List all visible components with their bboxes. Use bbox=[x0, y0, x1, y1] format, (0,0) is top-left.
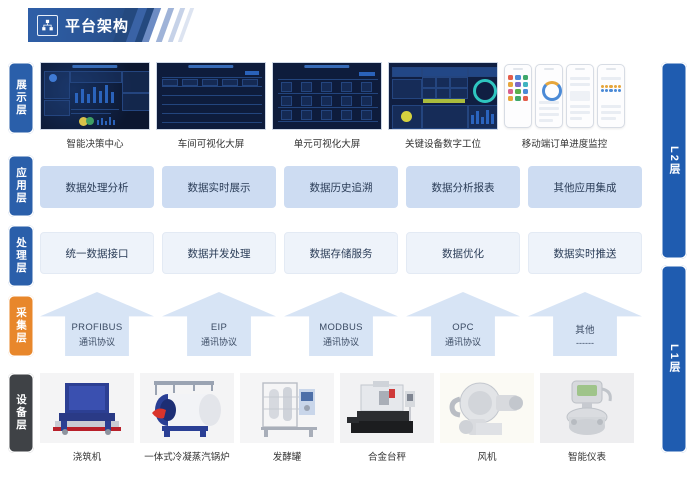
protocol-arrow-modbus[interactable]: MODBUS 通讯协议 bbox=[284, 292, 398, 356]
proc-item-unified-data-interface[interactable]: 统一数据接口 bbox=[40, 232, 154, 274]
right-tab-l1-layer[interactable]: L1层 bbox=[661, 265, 687, 453]
page-header: 平台架构 bbox=[0, 0, 695, 52]
dashboard-thumbnail[interactable] bbox=[40, 62, 150, 130]
sidebar-item-collection-layer[interactable]: 采集层 bbox=[8, 295, 34, 357]
header-banner: 平台架构 bbox=[28, 8, 136, 42]
protocol-name: 其他 bbox=[575, 322, 595, 336]
protocol-arrow-profibus[interactable]: PROFIBUS 通讯协议 bbox=[40, 292, 154, 356]
phone-mockup bbox=[535, 64, 563, 128]
display-layer-row: 智能决策中心 车间可视化大屏 bbox=[40, 62, 648, 150]
proc-item-label: 数据优化 bbox=[442, 246, 484, 261]
sidebar-label: 应用层 bbox=[15, 167, 27, 205]
device-photo[interactable] bbox=[40, 373, 134, 443]
device-caption: 发酵罐 bbox=[273, 449, 302, 463]
display-item-equipment-station[interactable]: 关键设备数字工位 bbox=[388, 62, 498, 150]
display-item-smart-decision-center[interactable]: 智能决策中心 bbox=[40, 62, 150, 150]
collection-layer-row: PROFIBUS 通讯协议 EIP 通讯协议 MODBUS 通讯协议 OPC 通… bbox=[40, 292, 648, 356]
protocol-name: OPC bbox=[452, 322, 474, 333]
app-item-analysis-report[interactable]: 数据分析报表 bbox=[406, 166, 520, 208]
right-tab-label: L2层 bbox=[666, 146, 682, 176]
display-item-caption: 车间可视化大屏 bbox=[178, 136, 245, 150]
proc-item-label: 统一数据接口 bbox=[66, 246, 129, 261]
sidebar-item-display-layer[interactable]: 展示层 bbox=[8, 62, 34, 134]
device-layer-row: 浇筑机 一体式冷凝蒸汽锅炉 bbox=[40, 373, 648, 463]
device-item-fermenter[interactable]: 发酵罐 bbox=[240, 373, 334, 463]
app-item-label: 数据实时展示 bbox=[188, 180, 251, 195]
platform-architecture-diagram: 平台架构 展示层 应用层 处理层 采集层 设备层 L2层 L1层 bbox=[0, 0, 695, 478]
protocol-sub: 通讯协议 bbox=[79, 335, 115, 348]
display-item-caption: 单元可视化大屏 bbox=[294, 136, 361, 150]
phone-mockups[interactable] bbox=[504, 62, 625, 130]
dashboard-thumbnail[interactable] bbox=[388, 62, 498, 130]
app-item-label: 数据历史追溯 bbox=[310, 180, 373, 195]
protocol-arrow-opc[interactable]: OPC 通讯协议 bbox=[406, 292, 520, 356]
device-item-boiler[interactable]: 一体式冷凝蒸汽锅炉 bbox=[140, 373, 234, 463]
phone-mockup bbox=[504, 64, 532, 128]
device-item-alloy-scale[interactable]: 合金台秤 bbox=[340, 373, 434, 463]
proc-item-concurrent-processing[interactable]: 数据并发处理 bbox=[162, 232, 276, 274]
device-item-blower[interactable]: 风机 bbox=[440, 373, 534, 463]
device-photo[interactable] bbox=[540, 373, 634, 443]
device-caption: 风机 bbox=[477, 449, 496, 463]
display-item-caption: 移动端订单进度监控 bbox=[522, 136, 608, 150]
sidebar-item-application-layer[interactable]: 应用层 bbox=[8, 155, 34, 217]
app-item-label: 数据处理分析 bbox=[66, 180, 129, 195]
sidebar-label: 采集层 bbox=[15, 307, 27, 345]
phone-mockup bbox=[597, 64, 625, 128]
protocol-sub: 通讯协议 bbox=[323, 335, 359, 348]
device-caption: 浇筑机 bbox=[73, 449, 102, 463]
processing-layer-row: 统一数据接口 数据并发处理 数据存储服务 数据优化 数据实时推送 bbox=[40, 232, 648, 274]
device-item-casting-machine[interactable]: 浇筑机 bbox=[40, 373, 134, 463]
device-caption: 智能仪表 bbox=[568, 449, 606, 463]
protocol-sub: ------ bbox=[576, 338, 594, 348]
device-caption: 一体式冷凝蒸汽锅炉 bbox=[144, 449, 230, 463]
device-photo[interactable] bbox=[240, 373, 334, 443]
sidebar-label: 设备层 bbox=[15, 394, 27, 432]
device-photo[interactable] bbox=[340, 373, 434, 443]
proc-item-realtime-push[interactable]: 数据实时推送 bbox=[528, 232, 642, 274]
app-item-data-processing-analysis[interactable]: 数据处理分析 bbox=[40, 166, 154, 208]
header-stripes bbox=[124, 8, 204, 42]
application-layer-row: 数据处理分析 数据实时展示 数据历史追溯 数据分析报表 其他应用集成 bbox=[40, 166, 648, 208]
device-photo[interactable] bbox=[140, 373, 234, 443]
sidebar-label: 展示层 bbox=[15, 79, 27, 117]
proc-item-label: 数据并发处理 bbox=[188, 246, 251, 261]
sidebar-item-device-layer[interactable]: 设备层 bbox=[8, 373, 34, 453]
device-photo[interactable] bbox=[440, 373, 534, 443]
device-item-smart-instrument[interactable]: 智能仪表 bbox=[540, 373, 634, 463]
dashboard-thumbnail[interactable] bbox=[272, 62, 382, 130]
protocol-name: MODBUS bbox=[319, 322, 363, 333]
right-tab-l2-layer[interactable]: L2层 bbox=[661, 62, 687, 259]
proc-item-data-optimization[interactable]: 数据优化 bbox=[406, 232, 520, 274]
protocol-sub: 通讯协议 bbox=[445, 335, 481, 348]
app-item-label: 其他应用集成 bbox=[554, 180, 617, 195]
app-item-other-integration[interactable]: 其他应用集成 bbox=[528, 166, 642, 208]
proc-item-label: 数据存储服务 bbox=[310, 246, 373, 261]
sidebar-label: 处理层 bbox=[15, 237, 27, 275]
sitemap-icon bbox=[37, 15, 58, 36]
display-item-caption: 关键设备数字工位 bbox=[405, 136, 481, 150]
display-item-mobile-order-monitor[interactable]: 移动端订单进度监控 bbox=[504, 62, 625, 150]
protocol-arrow-other[interactable]: 其他 ------ bbox=[528, 292, 642, 356]
app-item-realtime-display[interactable]: 数据实时展示 bbox=[162, 166, 276, 208]
display-item-unit-screen[interactable]: 单元可视化大屏 bbox=[272, 62, 382, 150]
protocol-arrow-eip[interactable]: EIP 通讯协议 bbox=[162, 292, 276, 356]
proc-item-label: 数据实时推送 bbox=[554, 246, 617, 261]
sidebar-item-processing-layer[interactable]: 处理层 bbox=[8, 225, 34, 287]
proc-item-storage-service[interactable]: 数据存储服务 bbox=[284, 232, 398, 274]
device-caption: 合金台秤 bbox=[368, 449, 406, 463]
dashboard-thumbnail[interactable] bbox=[156, 62, 266, 130]
right-tab-label: L1层 bbox=[666, 344, 682, 374]
display-item-workshop-screen[interactable]: 车间可视化大屏 bbox=[156, 62, 266, 150]
protocol-sub: 通讯协议 bbox=[201, 335, 237, 348]
display-item-caption: 智能决策中心 bbox=[66, 136, 123, 150]
protocol-name: PROFIBUS bbox=[72, 322, 123, 333]
app-item-history-tracing[interactable]: 数据历史追溯 bbox=[284, 166, 398, 208]
phone-mockup bbox=[566, 64, 594, 128]
app-item-label: 数据分析报表 bbox=[432, 180, 495, 195]
protocol-name: EIP bbox=[211, 322, 227, 333]
page-title: 平台架构 bbox=[65, 15, 129, 36]
